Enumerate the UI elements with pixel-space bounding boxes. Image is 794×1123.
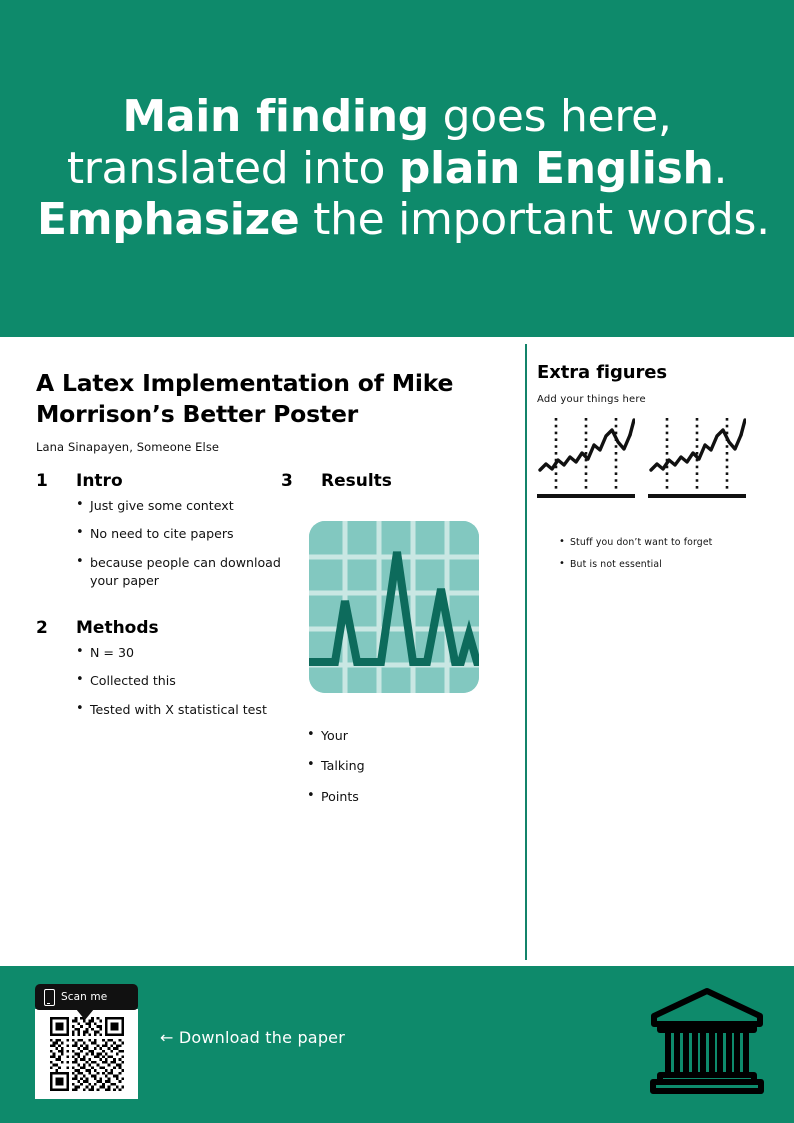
poster-footer-band: Scan me — [0, 966, 794, 1123]
section-title-intro: Intro — [76, 471, 123, 491]
qr-code-icon[interactable] — [43, 1014, 131, 1094]
phone-icon — [44, 989, 55, 1006]
list-item: because people can download your paper — [76, 554, 281, 591]
column-middle: 3 Results — [281, 471, 506, 818]
headline-line-2-post: . — [713, 143, 727, 194]
extra-figure-1-chart — [537, 416, 635, 502]
headline-line-1-rest: goes here, — [429, 91, 672, 142]
list-item: No need to cite papers — [76, 525, 281, 543]
extra-figures-heading: Extra figures — [537, 362, 777, 383]
intro-bullet-list: Just give some context No need to cite p… — [36, 497, 281, 590]
institution-building-icon — [648, 984, 766, 1096]
column-left: 1 Intro Just give some context No need t… — [36, 471, 281, 818]
headline-line-2-pre: translated into — [67, 143, 399, 194]
section-heading-results: 3 Results — [281, 471, 506, 491]
results-spectrum-chart — [309, 521, 479, 693]
section-number-1: 1 — [36, 471, 76, 491]
section-number-2: 2 — [36, 618, 76, 638]
extra-figure-2-chart — [648, 416, 746, 502]
list-item: N = 30 — [76, 644, 281, 662]
qr-code-card[interactable] — [35, 1009, 138, 1099]
poster-canvas: Main finding goes here, translated into … — [0, 0, 794, 1123]
list-item: Talking — [307, 757, 506, 775]
badge-pointer — [76, 1009, 94, 1020]
page-title: A Latex Implementation of Mike Morrison’… — [36, 368, 506, 430]
results-chart-svg — [309, 521, 479, 693]
qr-code-block[interactable]: Scan me — [35, 984, 138, 1099]
column-right: Extra figures Add your things here — [537, 362, 777, 581]
list-item: Collected this — [76, 672, 281, 690]
main-content-area: A Latex Implementation of Mike Morrison’… — [36, 368, 506, 818]
headline-line-3-bold: Emphasize — [37, 194, 299, 245]
download-paper-label[interactable]: ← Download the paper — [160, 1028, 345, 1047]
list-item: Just give some context — [76, 497, 281, 515]
headline-line-3-rest: the important words. — [299, 194, 769, 245]
section-heading-methods: 2 Methods — [36, 618, 281, 638]
institution-logo — [648, 984, 766, 1100]
headline-line-2-bold: plain English — [399, 143, 714, 194]
headline-line-1-bold: Main finding — [122, 91, 429, 142]
list-item: Stuff you don’t want to forget — [559, 536, 777, 549]
extra-figures-bullet-list: Stuff you don’t want to forget But is no… — [537, 536, 777, 572]
methods-bullet-list: N = 30 Collected this Tested with X stat… — [36, 644, 281, 719]
column-divider — [525, 344, 527, 960]
section-title-results: Results — [321, 471, 392, 491]
scan-me-label: Scan me — [61, 991, 107, 1003]
author-list: Lana Sinapayen, Someone Else — [36, 440, 506, 454]
section-title-methods: Methods — [76, 618, 159, 638]
results-bullet-list: Your Talking Points — [281, 727, 506, 806]
list-item: But is not essential — [559, 558, 777, 571]
headline-line-3: Emphasize the important words. — [37, 194, 757, 246]
results-figure-wrapper — [309, 521, 506, 693]
section-number-3: 3 — [281, 471, 321, 491]
extra-figures-subtitle: Add your things here — [537, 394, 777, 405]
list-item: Tested with X statistical test — [76, 701, 281, 719]
headline-line-1: Main finding goes here, — [37, 91, 757, 143]
header-headline: Main finding goes here, translated into … — [37, 91, 757, 247]
content-columns: 1 Intro Just give some context No need t… — [36, 471, 506, 818]
section-heading-intro: 1 Intro — [36, 471, 281, 491]
scan-me-badge: Scan me — [35, 984, 138, 1010]
list-item: Points — [307, 788, 506, 806]
extra-figures-row — [537, 416, 777, 502]
list-item: Your — [307, 727, 506, 745]
headline-line-2: translated into plain English. — [37, 143, 757, 195]
poster-header-band: Main finding goes here, translated into … — [0, 0, 794, 337]
